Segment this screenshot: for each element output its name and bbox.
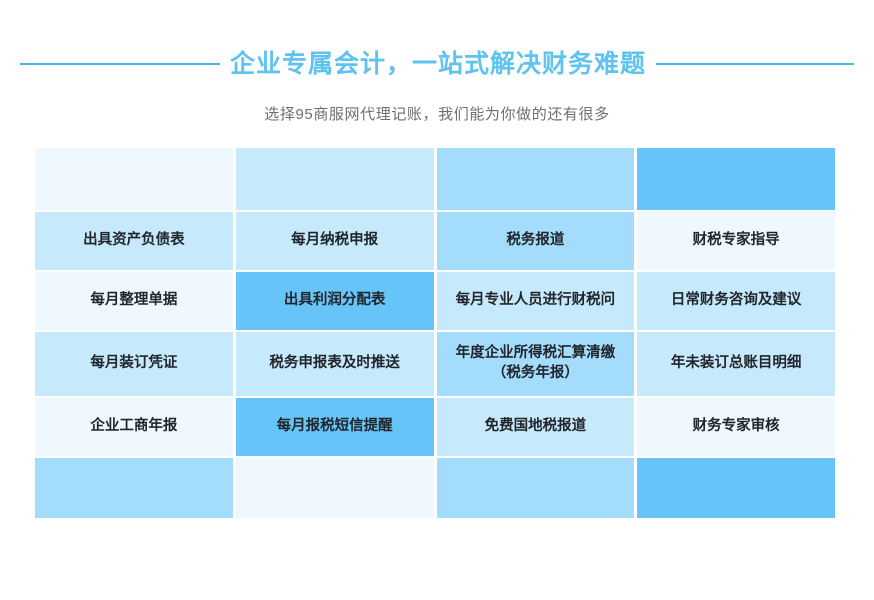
- service-cell-r3-c0[interactable]: 每月装订凭证: [35, 332, 233, 396]
- service-cell-r3-c2[interactable]: 年度企业所得税汇算清缴 （税务年报）: [437, 332, 635, 396]
- service-cell-r3-c1[interactable]: 税务申报表及时推送: [236, 332, 434, 396]
- header-rule-right: [656, 63, 854, 65]
- service-cell-r2-c1[interactable]: 出具利润分配表: [236, 272, 434, 330]
- service-cell-r4-c3[interactable]: 财务专家审核: [637, 398, 835, 456]
- grid-spacer-r5-c2: [437, 458, 635, 518]
- page-title: 企业专属会计，一站式解决财务难题: [230, 52, 646, 77]
- grid-spacer-r5-c1: [236, 458, 434, 518]
- grid-spacer-r0-c2: [437, 148, 635, 210]
- grid-spacer-r0-c0: [35, 148, 233, 210]
- service-table: 出具资产负债表每月纳税申报税务报道财税专家指导每月整理单据出具利润分配表每月专业…: [35, 148, 835, 508]
- page-subtitle: 选择95商服网代理记账，我们能为你做的还有很多: [0, 103, 874, 124]
- service-cell-r4-c0[interactable]: 企业工商年报: [35, 398, 233, 456]
- service-cell-r3-c3[interactable]: 年未装订总账目明细: [637, 332, 835, 396]
- service-cell-r2-c3[interactable]: 日常财务咨询及建议: [637, 272, 835, 330]
- service-cell-r2-c0[interactable]: 每月整理单据: [35, 272, 233, 330]
- grid-spacer-r5-c0: [35, 458, 233, 518]
- service-cell-r1-c3[interactable]: 财税专家指导: [637, 212, 835, 270]
- service-cell-r1-c1[interactable]: 每月纳税申报: [236, 212, 434, 270]
- grid-spacer-r5-c3: [637, 458, 835, 518]
- grid-spacer-r0-c3: [637, 148, 835, 210]
- service-cell-r4-c2[interactable]: 免费国地税报道: [437, 398, 635, 456]
- grid-spacer-r0-c1: [236, 148, 434, 210]
- page-root: 企业专属会计，一站式解决财务难题 选择95商服网代理记账，我们能为你做的还有很多…: [0, 0, 874, 600]
- service-cell-r2-c2[interactable]: 每月专业人员进行财税问: [437, 272, 635, 330]
- service-cell-r1-c0[interactable]: 出具资产负债表: [35, 212, 233, 270]
- page-header: 企业专属会计，一站式解决财务难题: [0, 42, 874, 86]
- service-cell-r1-c2[interactable]: 税务报道: [437, 212, 635, 270]
- service-cell-r4-c1[interactable]: 每月报税短信提醒: [236, 398, 434, 456]
- header-rule-left: [20, 63, 220, 65]
